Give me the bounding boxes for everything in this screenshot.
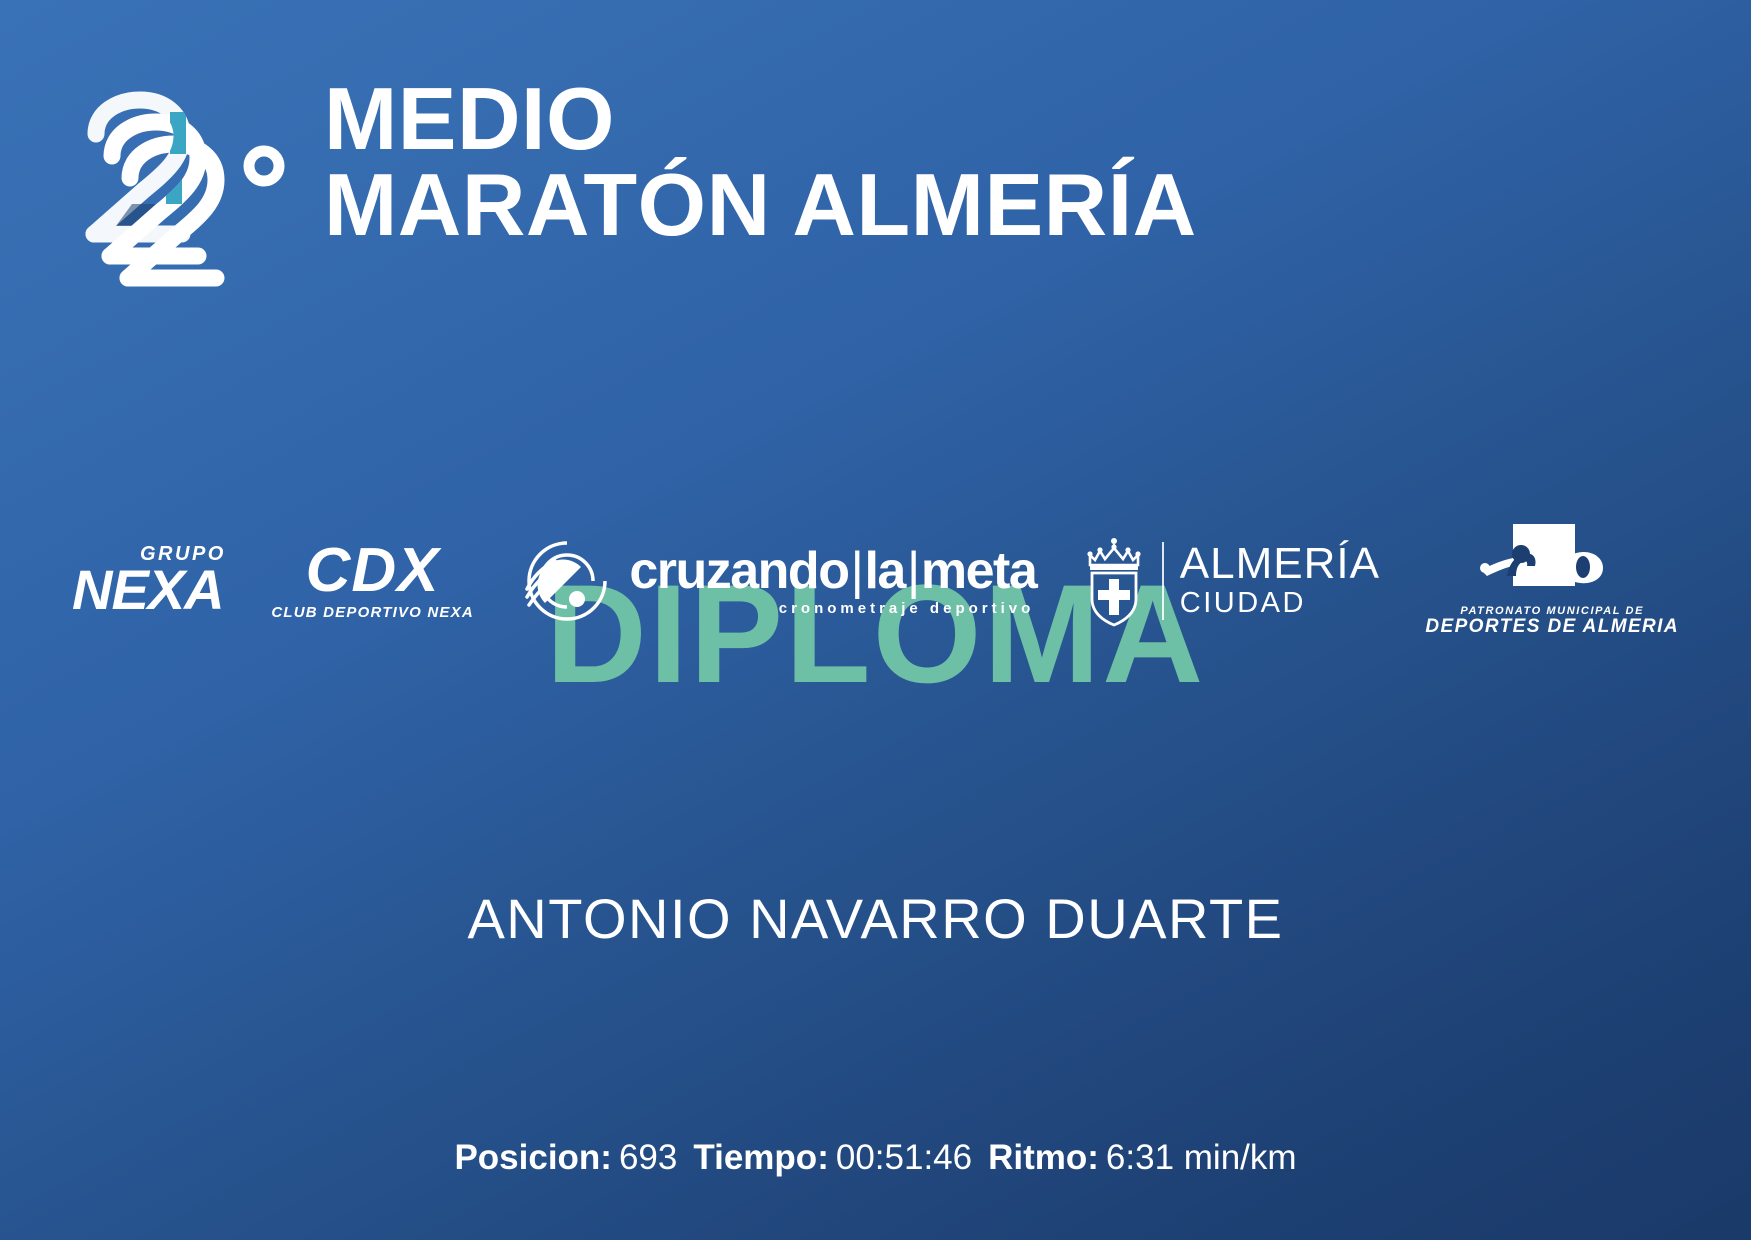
value-tiempo: 00:51:46 xyxy=(836,1138,972,1177)
cruzando-part-3: meta xyxy=(921,545,1036,597)
cruzando-part-1: cruzando xyxy=(629,545,848,597)
sponsor-grupo-nexa: GRUPO NEXA xyxy=(72,543,226,618)
cdx-wordmark: CDX xyxy=(306,540,440,602)
cruzando-bar-1: | xyxy=(848,545,864,597)
event-title-line-1: MEDIO xyxy=(324,76,1197,162)
patronato-upper-label: PATRONATO MUNICIPAL DE xyxy=(1460,605,1644,617)
value-ritmo: 6:31 min/km xyxy=(1106,1138,1297,1177)
label-tiempo: Tiempo: xyxy=(693,1138,828,1177)
sponsor-almeria-ciudad: ALMERÍA CIUDAD xyxy=(1082,535,1380,627)
cruzando-bar-2: | xyxy=(905,545,921,597)
label-posicion: Posicion: xyxy=(454,1138,612,1177)
patronato-wordmark: DEPORTES DE ALMERIA xyxy=(1425,617,1679,638)
cruzando-wordmark: cruzando|la|meta xyxy=(629,545,1036,597)
diploma-header: MEDIO MARATÓN ALMERÍA xyxy=(78,72,1498,298)
cruzando-tagline: cronometraje deportivo xyxy=(779,600,1035,617)
athlete-name: ANTONIO NAVARRO DUARTE xyxy=(0,888,1751,950)
label-ritmo: Ritmo: xyxy=(988,1138,1099,1177)
almeria-ciudad-label: CIUDAD xyxy=(1180,588,1306,620)
cruzando-text-block: cruzando|la|meta cronometraje deportivo xyxy=(629,545,1036,617)
almeria-text-block: ALMERÍA CIUDAD xyxy=(1180,542,1380,620)
event-title-line-2: MARATÓN ALMERÍA xyxy=(324,162,1197,248)
event-logo-22-icon xyxy=(78,86,296,298)
sponsor-cruzando-la-meta: cruzando|la|meta cronometraje deportivo xyxy=(519,533,1036,629)
patronato-athletes-icon xyxy=(1477,524,1627,602)
results-row-primary: Posicion:693Tiempo:00:51:46Ritmo:6:31 mi… xyxy=(0,1137,1751,1179)
value-posicion: 693 xyxy=(619,1138,677,1177)
nexa-wordmark: NEXA xyxy=(72,562,224,618)
sponsor-cdx: CDX CLUB DEPORTIVO NEXA xyxy=(271,540,474,621)
cruzando-part-2: la xyxy=(864,545,904,597)
almeria-wordmark: ALMERÍA xyxy=(1180,542,1380,587)
almeria-divider xyxy=(1162,542,1164,620)
sponsor-logos-row: GRUPO NEXA CDX CLUB DEPORTIVO NEXA cruza… xyxy=(0,521,1751,641)
event-title-block: MEDIO MARATÓN ALMERÍA xyxy=(324,72,1197,248)
diploma-certificate: MEDIO MARATÓN ALMERÍA DIPLOMA ANTONIO NA… xyxy=(0,0,1751,1240)
cdx-tagline: CLUB DEPORTIVO NEXA xyxy=(271,604,474,621)
almeria-crest-icon xyxy=(1082,535,1146,627)
stopwatch-speedometer-icon xyxy=(519,533,615,629)
sponsor-patronato-deportes: PATRONATO MUNICIPAL DE DEPORTES DE ALMER… xyxy=(1425,524,1679,638)
degree-symbol-icon xyxy=(249,151,279,181)
